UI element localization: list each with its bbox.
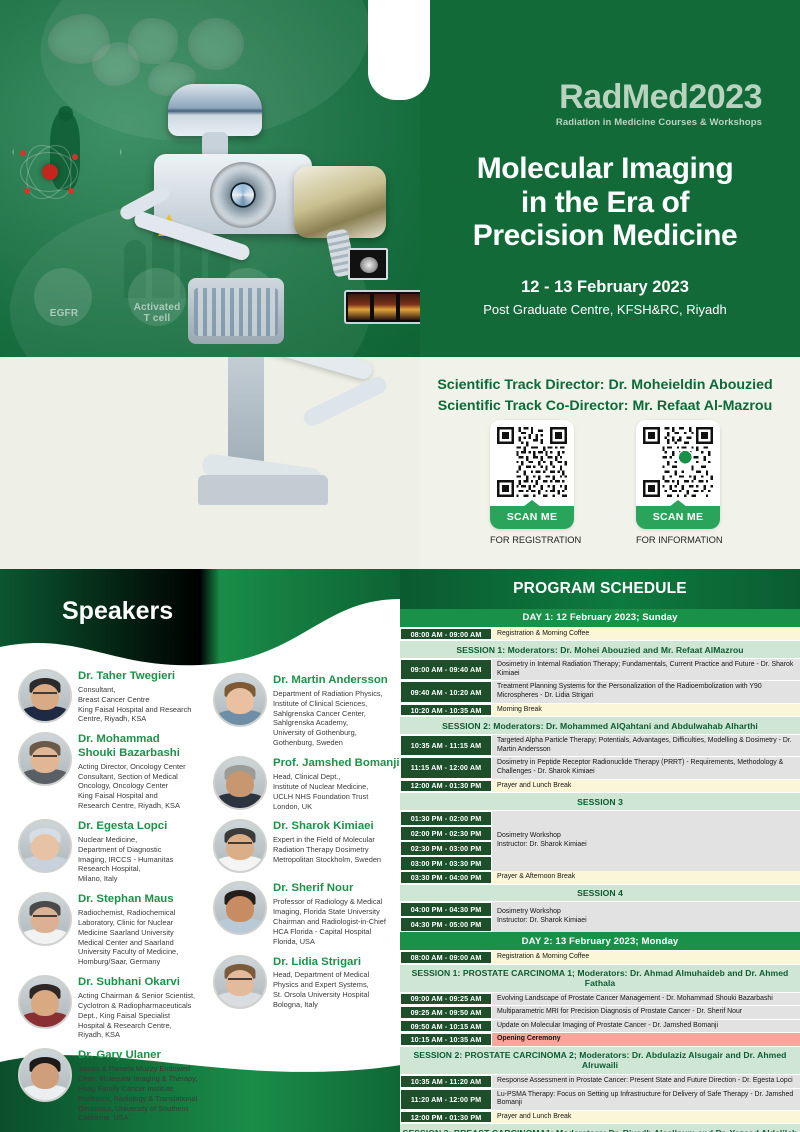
schedule-time: 09:00 AM - 09:25 AM xyxy=(400,993,492,1006)
avatar xyxy=(18,892,72,946)
schedule-row: 09:50 AM - 10:15 AMUpdate on Molecular I… xyxy=(400,1020,800,1034)
schedule-time: 12:00 AM - 01:30 PM xyxy=(400,780,492,793)
avatar xyxy=(18,732,72,786)
schedule-session-header: SESSION 1: Moderators: Dr. Mohei Abouzie… xyxy=(400,641,800,659)
schedule-time: 08:00 AM - 09:00 AM xyxy=(400,628,492,641)
speaker-card: Dr. Taher TwegieriConsultant, Breast Can… xyxy=(18,669,205,724)
schedule-time-group: 04:00 PM - 04:30 PM04:30 PM - 05:00 PM xyxy=(400,902,492,932)
speakers-column-left: Dr. Taher TwegieriConsultant, Breast Can… xyxy=(18,669,205,1131)
hero-banner: EGFR Activated T cell Estrogen Receptor xyxy=(0,0,800,357)
schedule-time: 09:25 AM - 09:50 AM xyxy=(400,1006,492,1019)
schedule-session-header: SESSION 4 xyxy=(400,885,800,903)
schedule-description: Update on Molecular Imaging of Prostate … xyxy=(492,1020,800,1033)
speaker-name: Dr. Lidia Strigari xyxy=(273,956,369,969)
qr-code-icon[interactable] xyxy=(497,427,567,497)
title-line-2: in the Era of xyxy=(420,186,790,220)
speaker-name: Dr. Mohammad Shouki Bazarbashi xyxy=(78,733,186,760)
schedule-description: Response Assessment in Prostate Cancer: … xyxy=(492,1075,800,1088)
directors-and-qr-band: Scientific Track Director: Dr. Moheieldi… xyxy=(0,357,800,569)
schedule-description: Prayer and Lunch Break xyxy=(492,780,800,793)
schedule-row: 10:35 AM - 11:20 AMResponse Assessment i… xyxy=(400,1075,800,1089)
schedule-time: 09:00 AM - 09:40 AM xyxy=(400,659,492,680)
session-label: SESSION 3: BREAST CARCINOMA1; Moderators… xyxy=(400,1124,800,1132)
brain-icon xyxy=(188,18,244,70)
art-label-egfr: EGFR xyxy=(28,308,100,319)
schedule-row: 12:00 PM - 01:30 PMPrayer and Lunch Brea… xyxy=(400,1111,800,1125)
speaker-name: Dr. Sherif Nour xyxy=(273,882,386,895)
session-label: SESSION 2: PROSTATE CARCINOMA 2; Moderat… xyxy=(400,1047,800,1074)
schedule-time: 11:20 AM - 12:00 PM xyxy=(400,1089,492,1110)
session-label: SESSION 1: Moderators: Dr. Mohei Abouzie… xyxy=(400,641,800,658)
track-co-director: Scientific Track Co-Director: Mr. Refaat… xyxy=(420,396,790,417)
speaker-name: Dr. Sharok Kimiaei xyxy=(273,820,381,833)
speaker-card: Prof. Jamshed BomanjiHead, Clinical Dept… xyxy=(213,756,400,811)
schedule-time: 02:00 PM - 02:30 PM xyxy=(400,826,492,841)
speaker-affiliation: Nuclear Medicine, Department of Diagnost… xyxy=(78,835,173,884)
schedule-session-header: SESSION 2: PROSTATE CARCINOMA 2; Moderat… xyxy=(400,1047,800,1075)
speaker-name: Dr. Gary Ulaner xyxy=(78,1049,197,1062)
speaker-card: Dr. Martin AnderssonDepartment of Radiat… xyxy=(213,673,400,748)
bottom-section: Speakers Dr. Taher TwegieriConsultant, B… xyxy=(0,569,800,1132)
speaker-card: Dr. Lidia StrigariHead, Department of Me… xyxy=(213,955,400,1010)
atom-icon xyxy=(18,148,80,196)
schedule-time: 02:30 PM - 03:00 PM xyxy=(400,841,492,856)
directors-block: Scientific Track Director: Dr. Moheieldi… xyxy=(420,375,790,416)
schedule-time: 03:30 PM - 04:00 PM xyxy=(400,871,492,884)
schedule-description: Evolving Landscape of Prostate Cancer Ma… xyxy=(492,993,800,1006)
session-label: SESSION 3 xyxy=(400,793,800,810)
hero-illustration: EGFR Activated T cell Estrogen Receptor xyxy=(0,0,420,357)
session-label: SESSION 4 xyxy=(400,885,800,902)
breast-icon xyxy=(128,18,178,64)
schedule-row: 11:20 AM - 12:00 PMLu-PSMA Therapy: Focu… xyxy=(400,1089,800,1111)
avatar xyxy=(213,819,267,873)
schedule-description: Morning Break xyxy=(492,704,800,717)
schedule-time: 01:30 PM - 02:00 PM xyxy=(400,811,492,826)
schedule-session-header: SESSION 3: BREAST CARCINOMA1; Moderators… xyxy=(400,1124,800,1132)
avatar xyxy=(18,669,72,723)
conference-poster: EGFR Activated T cell Estrogen Receptor xyxy=(0,0,800,1132)
schedule-description: Lu-PSMA Therapy: Focus on Setting up Inf… xyxy=(492,1089,800,1110)
schedule-row: 10:15 AM - 10:35 AMOpening Ceremony xyxy=(400,1033,800,1047)
page-title: Molecular Imaging in the Era of Precisio… xyxy=(420,152,790,253)
event-dates: 12 - 13 February 2023 xyxy=(420,278,790,297)
pet-ct-scanner-illustration xyxy=(132,78,412,357)
schedule-workshop-block: 01:30 PM - 02:00 PM02:00 PM - 02:30 PM02… xyxy=(400,811,800,871)
speaker-affiliation: Acting Chairman & Senior Scientist, Cycl… xyxy=(78,991,195,1040)
schedule-row: 09:40 AM - 10:20 AMTreatment Planning Sy… xyxy=(400,681,800,703)
avatar xyxy=(18,819,72,873)
avatar xyxy=(18,975,72,1029)
schedule-time: 11:15 AM - 12:00 AM xyxy=(400,757,492,778)
avatar xyxy=(18,1048,72,1102)
track-director: Scientific Track Director: Dr. Moheieldi… xyxy=(420,375,790,396)
speaker-name: Dr. Taher Twegieri xyxy=(78,670,191,683)
schedule-row: 10:35 AM - 11:15 AMTargeted Alpha Partic… xyxy=(400,735,800,757)
schedule-row: 10:20 AM - 10:35 AMMorning Break xyxy=(400,704,800,718)
schedule-session-header: SESSION 3 xyxy=(400,793,800,811)
logo-tab xyxy=(368,0,430,100)
schedule-workshop-block: 04:00 PM - 04:30 PM04:30 PM - 05:00 PMDo… xyxy=(400,902,800,932)
avatar xyxy=(213,756,267,810)
schedule-description: Registration & Morning Coffee xyxy=(492,628,800,641)
speaker-name: Dr. Subhani Okarvi xyxy=(78,976,195,989)
schedule-time: 10:15 AM - 10:35 AM xyxy=(400,1033,492,1046)
speakers-heading: Speakers xyxy=(62,597,173,626)
day-label: DAY 1: 12 February 2023; Sunday xyxy=(400,609,800,627)
schedule-time: 12:00 PM - 01:30 PM xyxy=(400,1111,492,1124)
speaker-affiliation: Consultant, Breast Cancer Centre King Fa… xyxy=(78,685,191,724)
schedule-description: Multiparametric MRI for Precision Diagno… xyxy=(492,1006,800,1019)
schedule-session-header: SESSION 1: PROSTATE CARCINOMA 1; Moderat… xyxy=(400,965,800,993)
schedule-day-header: DAY 2: 13 February 2023; Monday xyxy=(400,932,800,951)
schedule-time: 04:30 PM - 05:00 PM xyxy=(400,917,492,932)
speaker-name: Dr. Martin Andersson xyxy=(273,674,388,687)
schedule-time: 04:00 PM - 04:30 PM xyxy=(400,902,492,917)
schedule-row: 08:00 AM - 09:00 AMRegistration & Mornin… xyxy=(400,951,800,965)
speaker-name: Prof. Jamshed Bomanji xyxy=(273,757,400,770)
schedule-description: Treatment Planning Systems for the Perso… xyxy=(492,681,800,702)
schedule-description: Dosimetry Workshop Instructor: Dr. Sharo… xyxy=(492,811,800,871)
program-schedule: PROGRAM SCHEDULE DAY 1: 12 February 2023… xyxy=(400,569,800,1132)
qr-caption-information: FOR INFORMATION xyxy=(636,535,720,545)
schedule-row: 12:00 AM - 01:30 PMPrayer and Lunch Brea… xyxy=(400,780,800,794)
brand-block: RadMed2023 Radiation in Medicine Courses… xyxy=(430,80,780,128)
title-line-1: Molecular Imaging xyxy=(420,152,790,186)
schedule-time: 10:35 AM - 11:15 AM xyxy=(400,735,492,756)
schedule-time: 08:00 AM - 09:00 AM xyxy=(400,951,492,964)
schedule-description: Dosimetry in Internal Radiation Therapy;… xyxy=(492,659,800,680)
speaker-card: Dr. Subhani OkarviActing Chairman & Seni… xyxy=(18,975,205,1040)
schedule-description: Registration & Morning Coffee xyxy=(492,951,800,964)
scan-images-monitor xyxy=(344,290,420,324)
schedule-description: Prayer and Lunch Break xyxy=(492,1111,800,1124)
schedule-description: Dosimetry Workshop Instructor: Dr. Sharo… xyxy=(492,902,800,932)
schedule-row: 11:15 AM - 12:00 AMDosimetry in Peptide … xyxy=(400,757,800,779)
speaker-affiliation: Department of Radiation Physics, Institu… xyxy=(273,689,388,748)
schedule-day-header: DAY 1: 12 February 2023; Sunday xyxy=(400,609,800,628)
brand-tagline: Radiation in Medicine Courses & Workshop… xyxy=(430,117,762,128)
speaker-affiliation: Professor of Radiology & Medical Imaging… xyxy=(273,897,386,946)
speaker-card: Dr. Sharok KimiaeiExpert in the Field of… xyxy=(213,819,400,873)
brand-name: RadMed2023 xyxy=(430,80,762,114)
small-display-icon xyxy=(348,248,388,280)
schedule-time: 10:35 AM - 11:20 AM xyxy=(400,1075,492,1088)
speaker-card: Dr. Egesta LopciNuclear Medicine, Depart… xyxy=(18,819,205,884)
schedule-row: 09:00 AM - 09:25 AMEvolving Landscape of… xyxy=(400,993,800,1007)
avatar xyxy=(213,955,267,1009)
schedule-time: 10:20 AM - 10:35 AM xyxy=(400,704,492,717)
event-venue: Post Graduate Centre, KFSH&RC, Riyadh xyxy=(420,302,790,317)
speaker-name: Dr. Stephan Maus xyxy=(78,893,178,906)
qr-codes-group: SCAN ME FOR REGISTRATION xyxy=(420,420,790,545)
qr-caption-registration: FOR REGISTRATION xyxy=(490,535,574,545)
speaker-affiliation: Radiochemist, Radiochemical Laboratory, … xyxy=(78,908,178,967)
schedule-time: 09:40 AM - 10:20 AM xyxy=(400,681,492,702)
schedule-row: 09:25 AM - 09:50 AMMultiparametric MRI f… xyxy=(400,1006,800,1020)
speaker-affiliation: James & Pamela Muzzy Endowed Chair, Mole… xyxy=(78,1064,197,1123)
speaker-affiliation: Acting Director, Oncology Center Consult… xyxy=(78,762,186,811)
qr-code-icon[interactable] xyxy=(643,427,713,497)
avatar xyxy=(213,881,267,935)
speaker-affiliation: Head, Clinical Dept., Institute of Nucle… xyxy=(273,772,400,811)
schedule-row: 09:00 AM - 09:40 AMDosimetry in Internal… xyxy=(400,659,800,681)
schedule-time-group: 01:30 PM - 02:00 PM02:00 PM - 02:30 PM02… xyxy=(400,811,492,871)
speaker-affiliation: Head, Department of Medical Physics and … xyxy=(273,970,369,1009)
schedule-row: 08:00 AM - 09:00 AMRegistration & Mornin… xyxy=(400,628,800,642)
schedule-description: Opening Ceremony xyxy=(492,1033,800,1046)
schedule-heading: PROGRAM SCHEDULE xyxy=(400,569,800,609)
speakers-column-right: Dr. Martin AnderssonDepartment of Radiat… xyxy=(213,669,400,1131)
speaker-card: Dr. Sherif NourProfessor of Radiology & … xyxy=(213,881,400,946)
session-label: SESSION 2: Moderators: Dr. Mohammed AlQa… xyxy=(400,717,800,734)
schedule-description: Targeted Alpha Particle Therapy; Potenti… xyxy=(492,735,800,756)
schedule-description: Prayer & Afternoon Break xyxy=(492,871,800,884)
speaker-name: Dr. Egesta Lopci xyxy=(78,820,173,833)
qr-registration[interactable]: SCAN ME FOR REGISTRATION xyxy=(490,420,574,545)
qr-information[interactable]: SCAN ME FOR INFORMATION xyxy=(636,420,720,545)
avatar xyxy=(213,673,267,727)
speaker-card: Dr. Mohammad Shouki BazarbashiActing Dir… xyxy=(18,732,205,811)
schedule-row: 03:30 PM - 04:00 PMPrayer & Afternoon Br… xyxy=(400,871,800,885)
scan-me-badge: SCAN ME xyxy=(490,506,574,529)
schedule-description: Dosimetry in Peptide Receptor Radionucli… xyxy=(492,757,800,778)
scan-me-badge: SCAN ME xyxy=(636,506,720,529)
day-label: DAY 2: 13 February 2023; Monday xyxy=(400,932,800,950)
schedule-session-header: SESSION 2: Moderators: Dr. Mohammed AlQa… xyxy=(400,717,800,735)
speaker-affiliation: Expert in the Field of Molecular Radiati… xyxy=(273,835,381,865)
session-label: SESSION 1: PROSTATE CARCINOMA 1; Moderat… xyxy=(400,965,800,992)
schedule-body: DAY 1: 12 February 2023; Sunday08:00 AM … xyxy=(400,609,800,1132)
speaker-card: Dr. Stephan MausRadiochemist, Radiochemi… xyxy=(18,892,205,967)
schedule-time: 09:50 AM - 10:15 AM xyxy=(400,1020,492,1033)
speaker-card: Dr. Gary UlanerJames & Pamela Muzzy Endo… xyxy=(18,1048,205,1123)
title-line-3: Precision Medicine xyxy=(420,219,790,253)
schedule-time: 03:00 PM - 03:30 PM xyxy=(400,856,492,871)
robot-lower-illustration xyxy=(0,357,420,569)
speakers-grid: Dr. Taher TwegieriConsultant, Breast Can… xyxy=(18,669,400,1131)
